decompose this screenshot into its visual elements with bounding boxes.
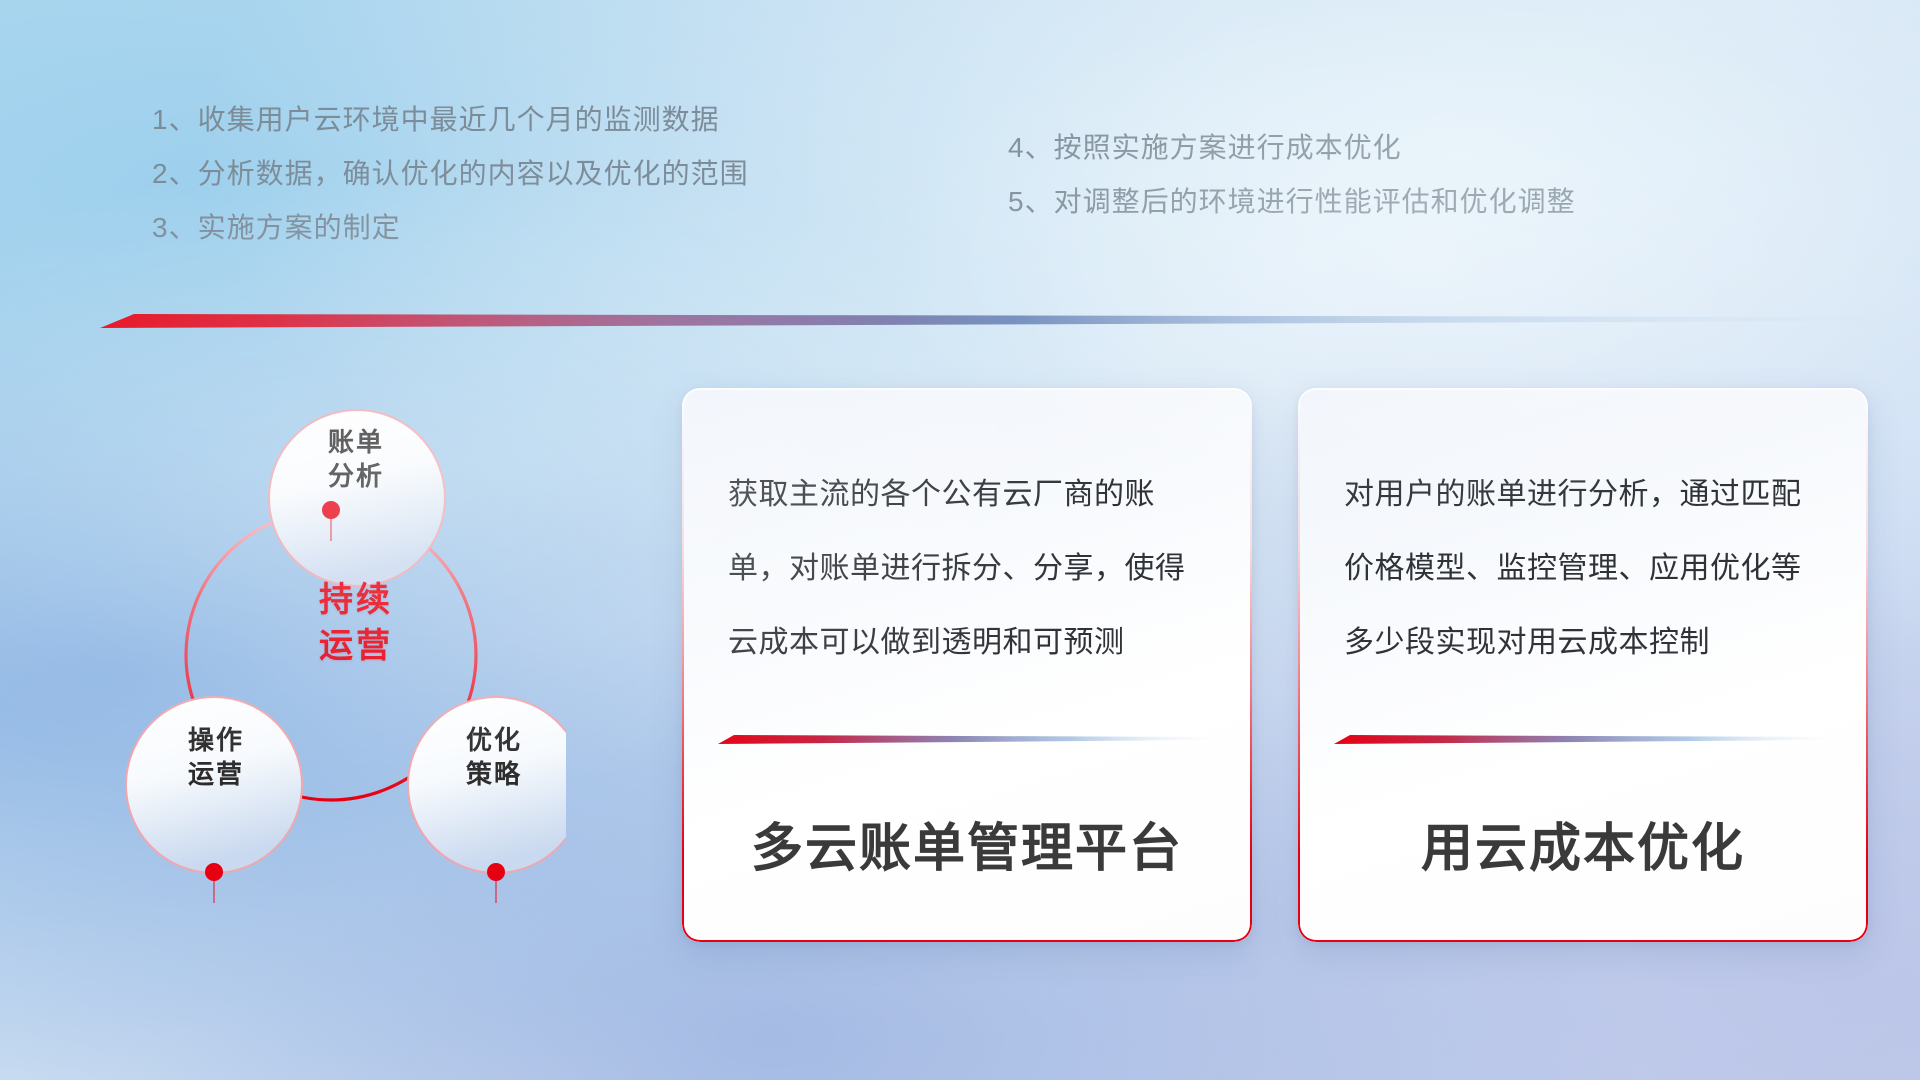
step-item-5: 5、对调整后的环境进行性能评估和优化调整 <box>1008 175 1576 229</box>
divider-shape <box>100 310 1870 332</box>
step-item-4: 4、按照实施方案进行成本优化 <box>1008 121 1576 175</box>
card-divider-shape <box>718 732 1210 748</box>
node-label-billing-analysis: 账单 分析 <box>296 425 416 493</box>
steps-left-column: 1、收集用户云环境中最近几个月的监测数据 2、分析数据，确认优化的内容以及优化的… <box>152 93 749 255</box>
step-item-3: 3、实施方案的制定 <box>152 201 749 255</box>
card-divider-shape <box>1334 732 1826 748</box>
continuous-operation-diagram: 账单 分析 操作 运营 优化 策略 持续 运营 <box>96 355 566 955</box>
step-item-1: 1、收集用户云环境中最近几个月的监测数据 <box>152 93 749 147</box>
step-item-2: 2、分析数据，确认优化的内容以及优化的范围 <box>152 147 749 201</box>
card-divider <box>718 732 1210 748</box>
diagram-center-label: 持续 运营 <box>281 577 431 669</box>
header-divider <box>100 310 1870 332</box>
connector-dot-right <box>487 863 505 903</box>
node-label-optimization-strategy: 优化 策略 <box>434 723 554 791</box>
card-divider <box>1334 732 1826 748</box>
card-title: 用云成本优化 <box>1298 806 1868 881</box>
slide-canvas: 1、收集用户云环境中最近几个月的监测数据 2、分析数据，确认优化的内容以及优化的… <box>0 0 1920 1080</box>
card-body-text: 获取主流的各个公有云厂商的账单，对账单进行拆分、分享，使得云成本可以做到透明和可… <box>728 458 1212 680</box>
card-title: 多云账单管理平台 <box>682 806 1252 881</box>
node-label-operation: 操作 运营 <box>156 723 276 791</box>
card-body-text: 对用户的账单进行分析，通过匹配价格模型、监控管理、应用优化等多少段实现对用云成本… <box>1344 458 1828 680</box>
connector-dot-left <box>205 863 223 903</box>
card-multi-cloud-billing-platform[interactable]: 获取主流的各个公有云厂商的账单，对账单进行拆分、分享，使得云成本可以做到透明和可… <box>682 388 1252 942</box>
steps-right-column: 4、按照实施方案进行成本优化 5、对调整后的环境进行性能评估和优化调整 <box>1008 121 1576 229</box>
card-cloud-cost-optimization[interactable]: 对用户的账单进行分析，通过匹配价格模型、监控管理、应用优化等多少段实现对用云成本… <box>1298 388 1868 942</box>
